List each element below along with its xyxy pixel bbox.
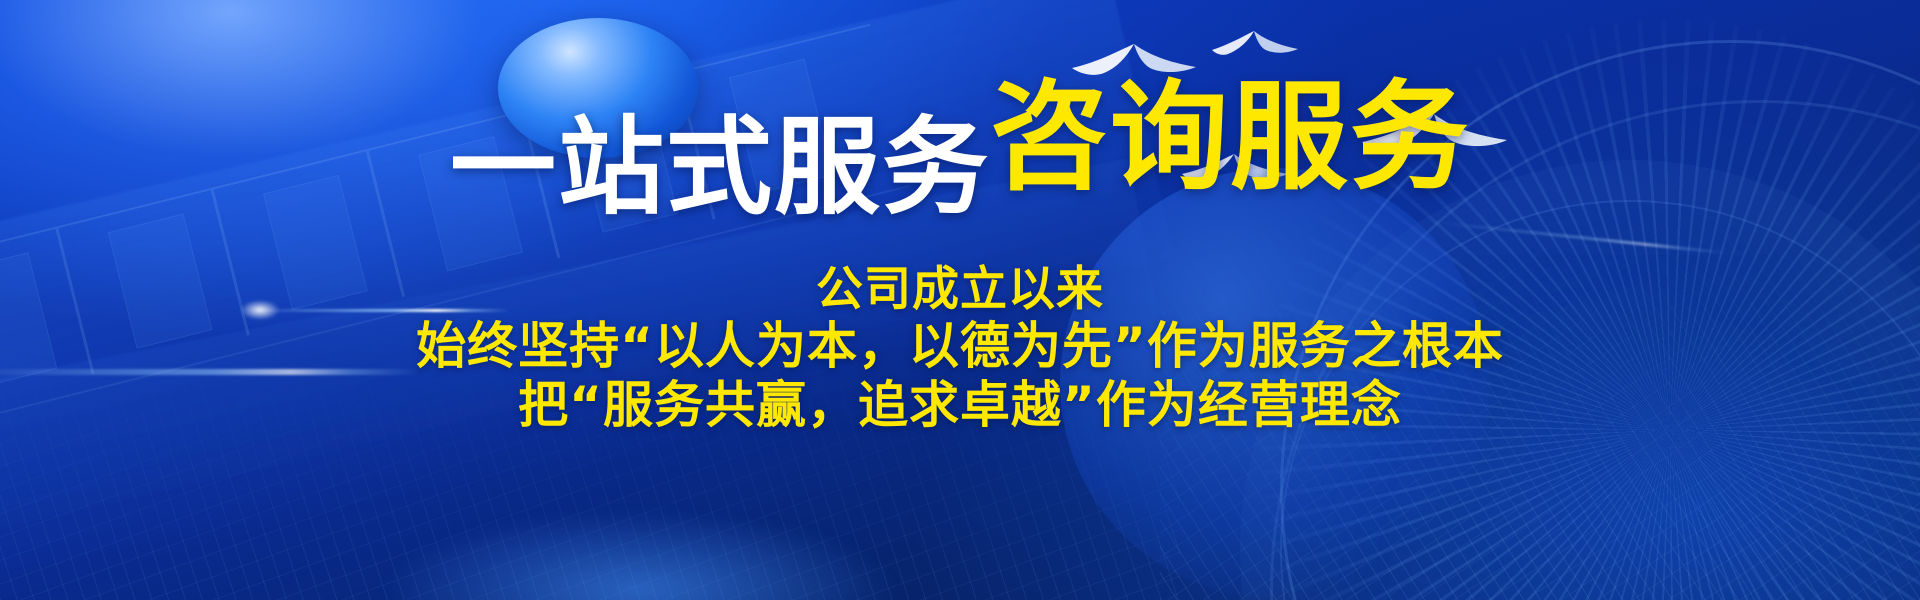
- headline: 一站式服务咨询服务: [0, 78, 1920, 196]
- subhead-block: 公司成立以来 始终坚持“以人为本，以德为先”作为服务之根本 把“服务共赢，追求卓…: [0, 262, 1920, 435]
- subhead-line-1: 公司成立以来: [0, 262, 1920, 317]
- headline-accent-text: 咨询服务: [990, 68, 1470, 206]
- subhead-line-2: 始终坚持“以人为本，以德为先”作为服务之根本: [0, 317, 1920, 376]
- headline-primary-text: 一站式服务: [450, 106, 990, 229]
- bird-icon: [1210, 30, 1300, 60]
- bottom-glow: [380, 510, 900, 600]
- promo-banner: 一站式服务咨询服务 公司成立以来 始终坚持“以人为本，以德为先”作为服务之根本 …: [0, 0, 1920, 600]
- light-flare-streak-right: [1431, 220, 1730, 254]
- subhead-line-3: 把“服务共赢，追求卓越”作为经营理念: [0, 376, 1920, 435]
